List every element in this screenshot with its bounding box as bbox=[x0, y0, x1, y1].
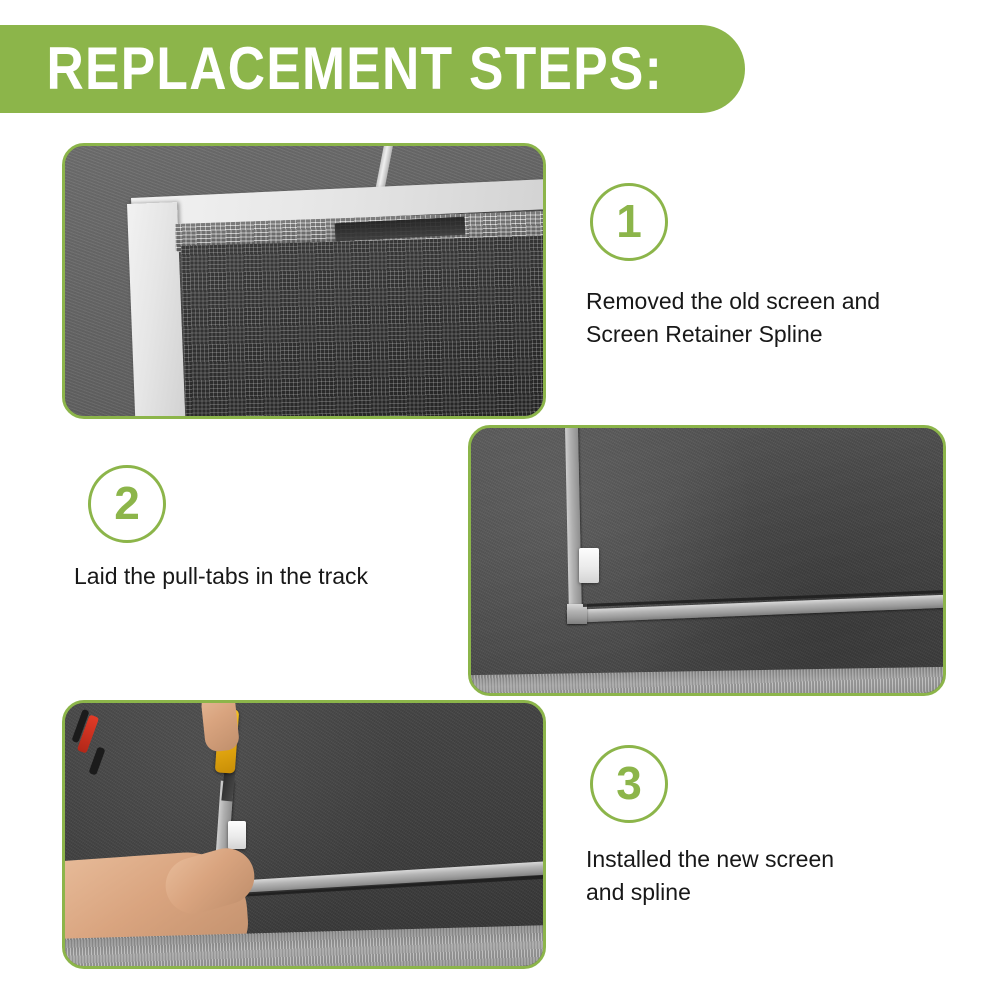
step-1-description: Removed the old screen and Screen Retain… bbox=[586, 285, 946, 351]
step-2-photo-content bbox=[471, 428, 943, 693]
pull-tab bbox=[228, 821, 246, 849]
pull-tab bbox=[579, 548, 599, 583]
step-2-description: Laid the pull-tabs in the track bbox=[74, 560, 454, 593]
step-2-number: 2 bbox=[114, 480, 140, 526]
step-3-description: Installed the new screen and spline bbox=[586, 843, 956, 909]
step-1-number: 1 bbox=[616, 198, 642, 244]
step-1-photo bbox=[62, 143, 546, 419]
page-title: REPLACEMENT STEPS: bbox=[0, 39, 663, 99]
step-3-photo-content bbox=[65, 703, 543, 966]
header-banner: REPLACEMENT STEPS: bbox=[0, 25, 745, 113]
hand-upper bbox=[200, 703, 240, 753]
step-3-number: 3 bbox=[616, 760, 642, 806]
step-1-number-badge: 1 bbox=[590, 183, 668, 261]
step-1-photo-content bbox=[65, 146, 543, 416]
step-3-number-badge: 3 bbox=[590, 745, 668, 823]
infographic-page: REPLACEMENT STEPS: bbox=[0, 0, 1000, 1000]
frame-corner-joint bbox=[567, 604, 587, 624]
step-2-photo bbox=[468, 425, 946, 696]
step-2-number-badge: 2 bbox=[88, 465, 166, 543]
step-3-photo bbox=[62, 700, 546, 969]
old-screen-mesh bbox=[181, 235, 543, 416]
carpet-background bbox=[471, 428, 943, 693]
